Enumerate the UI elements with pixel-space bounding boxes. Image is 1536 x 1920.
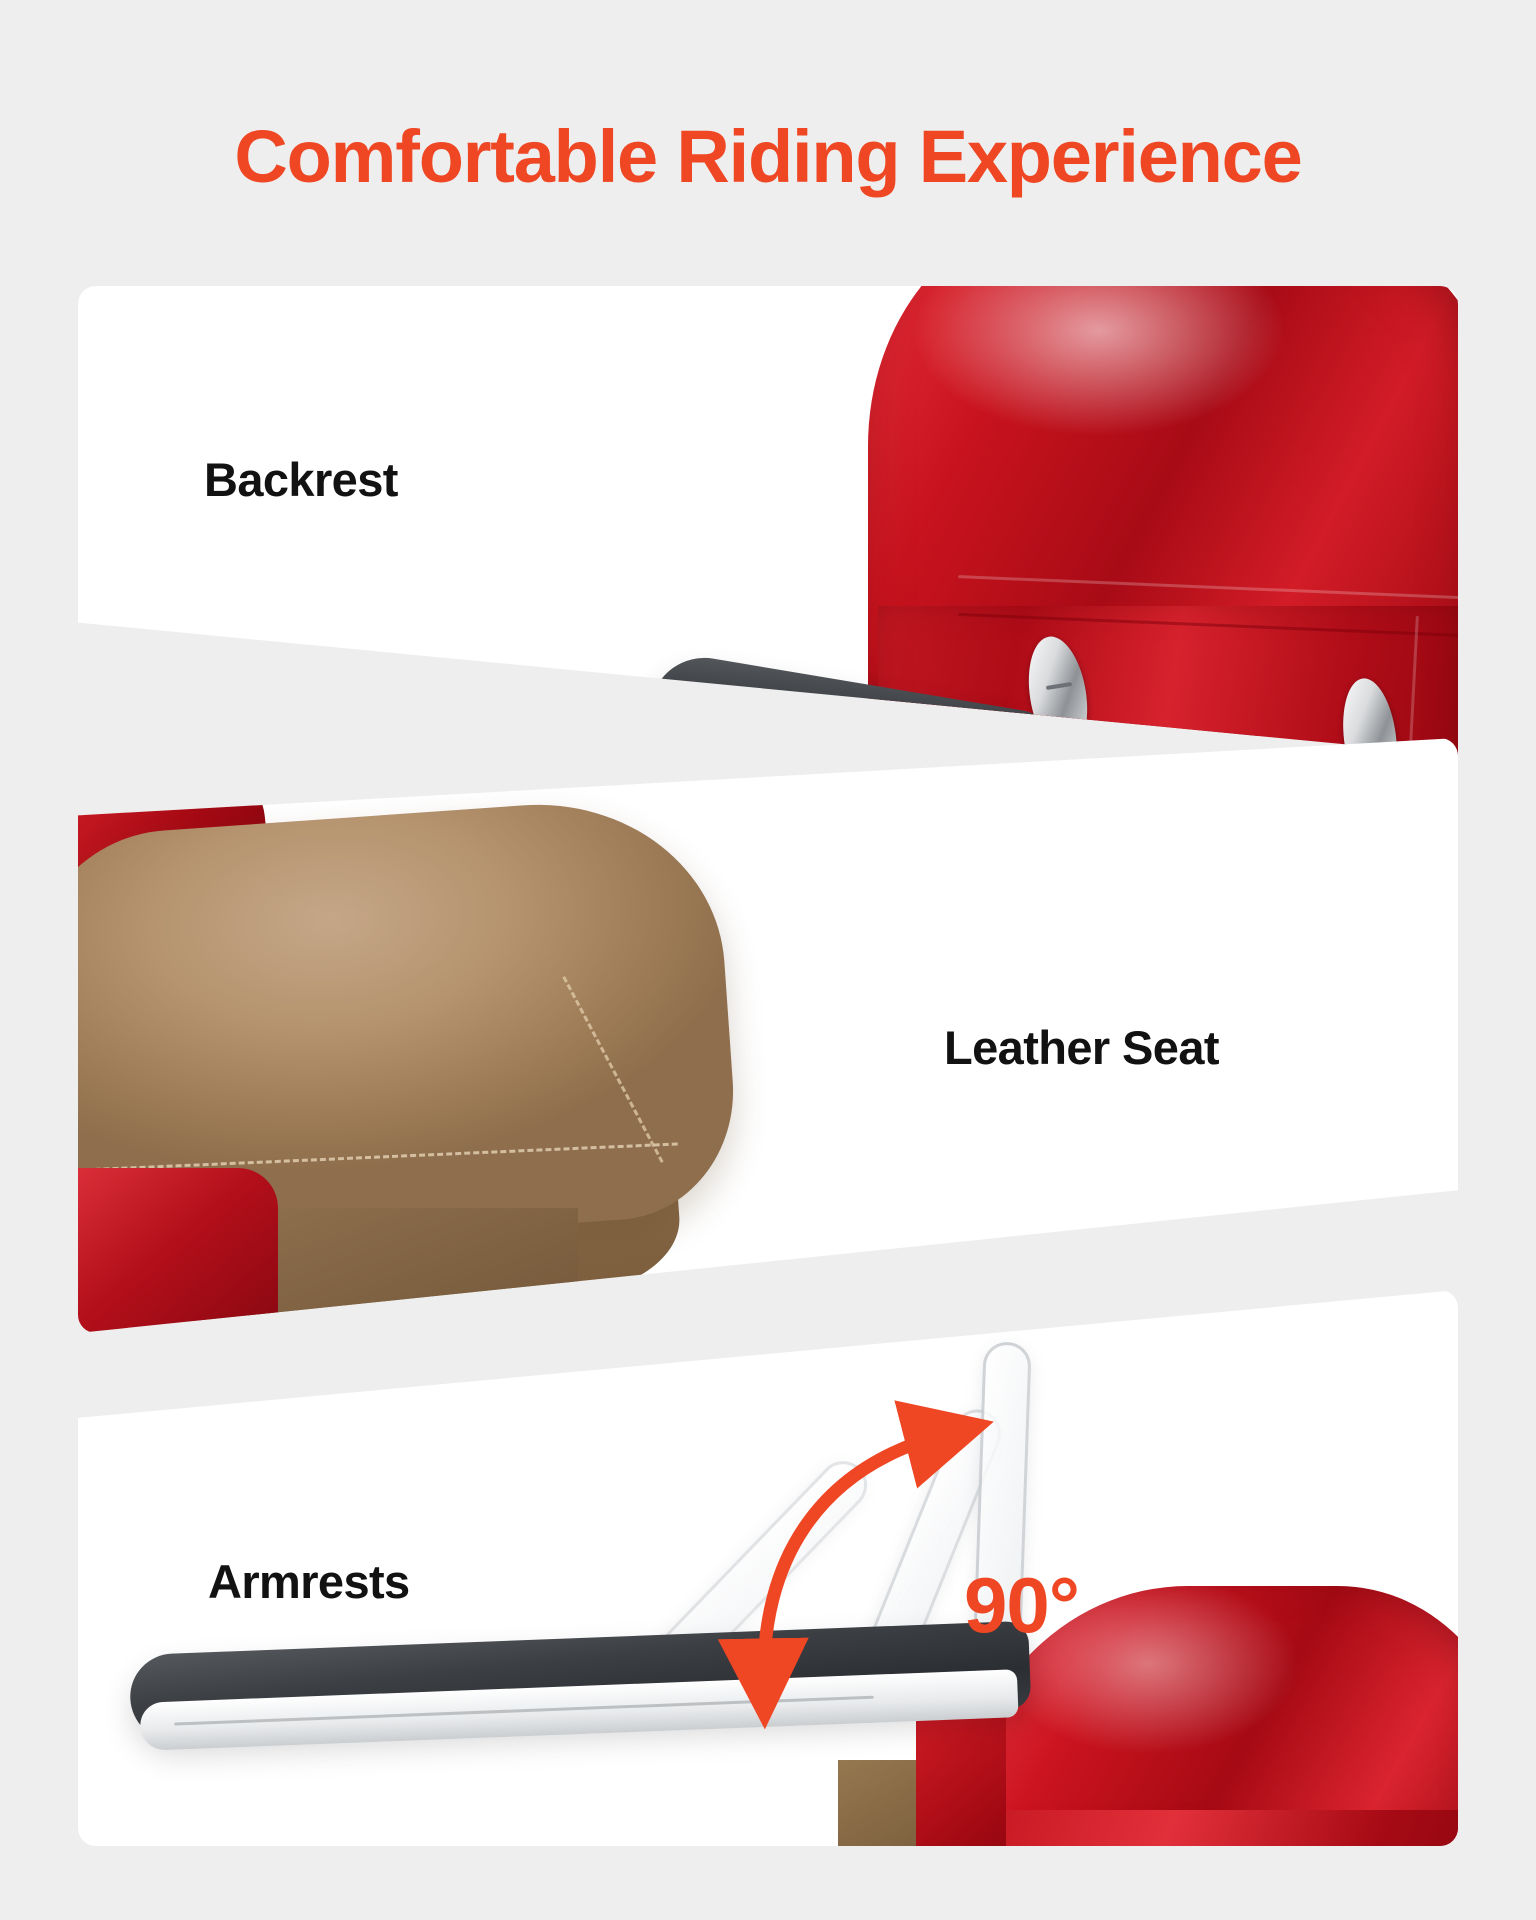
feature-label-backrest: Backrest [204,452,398,507]
feature-label-seat: Leather Seat [944,1020,1219,1075]
backrest-photo [78,286,1458,796]
feature-label-armrests: Armrests [208,1554,410,1609]
rotation-angle-value: 90° [964,1566,1079,1644]
page-title: Comfortable Riding Experience [0,120,1536,194]
infographic-page: Comfortable Riding Experience Backrest [0,0,1536,1920]
scooter-fender-lower-shape [962,1810,1458,1846]
feature-card-seat [78,738,1458,1333]
feature-card-backrest [78,286,1458,796]
seat-base-column-shape [248,1208,578,1333]
seat-post-tan-shape [838,1760,916,1846]
leather-seat-photo [78,738,1458,1333]
chassis-red-lower-shape [78,1168,278,1333]
